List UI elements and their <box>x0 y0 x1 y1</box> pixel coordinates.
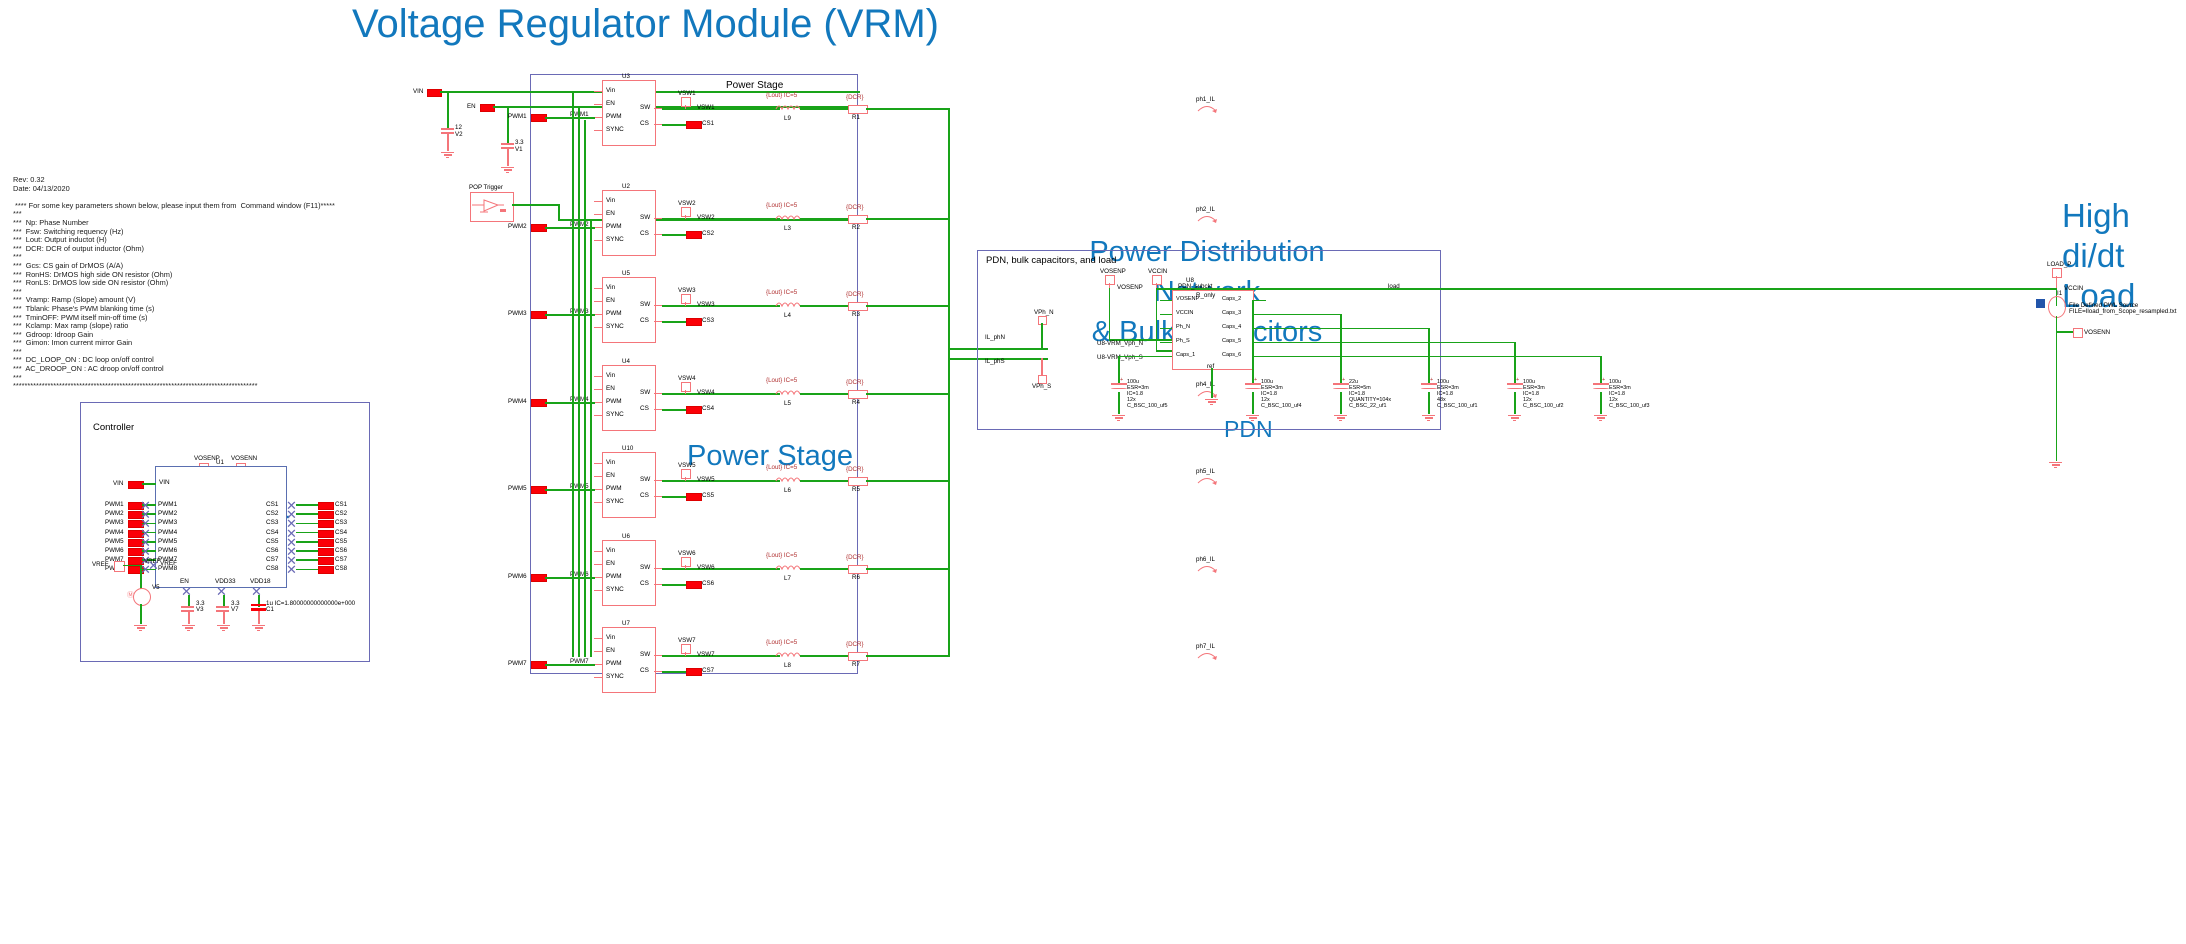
inductor-symbol-4 <box>774 474 802 486</box>
power-stage-pin-sync-4: SYNC <box>606 498 624 505</box>
power-stage-pin-sw-6: SW <box>640 651 650 658</box>
resistor-ref-5: R6 <box>852 574 860 581</box>
wire-vphn <box>1041 323 1043 348</box>
pdn-cap-dropline-4 <box>1600 356 1602 383</box>
pdn-pin-ph_n: Ph_N <box>1176 324 1190 330</box>
pdn-pin-ph_s: Ph_S <box>1176 338 1190 344</box>
power-stage-port-label-pwm1: PWM1 <box>508 113 527 120</box>
inductor-ref-6: L8 <box>784 662 791 669</box>
phase-current-label-4: ph5_IL <box>1196 468 1215 475</box>
power-stage-port-cs7[interactable] <box>686 668 702 676</box>
power-stage-port-label-pwm7: PWM7 <box>508 660 527 667</box>
controller-pin-cs7: CS7 <box>266 556 278 563</box>
inductor-value-5: {Lout} IC=5 <box>766 552 797 559</box>
wire-pop-trigger-down <box>558 204 560 220</box>
pdn-cap-ref-5: C_BSC_100_uf3 <box>1609 403 1649 410</box>
resistor-ref-6: R7 <box>852 661 860 668</box>
wire-v1-gnd <box>507 148 509 166</box>
pdn-cap-ref-3: C_BSC_100_uf1 <box>1437 403 1477 410</box>
power-stage-frame-label: Power Stage <box>726 80 783 91</box>
power-stage-pin-sync-0: SYNC <box>606 126 624 133</box>
resistor-value-5: {DCR} <box>846 554 864 561</box>
controller-wire-gnd-0 <box>188 611 190 624</box>
load-file-icon[interactable] <box>2036 299 2045 308</box>
pdn-cap-symbol-5 <box>1593 383 1609 392</box>
power-stage-pin-vin-2: Vin <box>606 284 615 291</box>
power-stage-outwire-0-3 <box>654 393 662 394</box>
pdn-ic-name: PDN_subckt <box>1178 283 1212 290</box>
power-stage-pin-en-2: EN <box>606 297 615 304</box>
power-stage-pin-sw-2: SW <box>640 301 650 308</box>
power-stage-testpoint-label-vsw4: VSW4 <box>678 375 696 382</box>
controller-frame-label: Controller <box>93 422 134 433</box>
inductor-symbol-0 <box>774 102 802 114</box>
controller-part-ref-2: C1 <box>266 606 274 613</box>
power-stage-tpwire-3 <box>685 390 687 394</box>
load-net-label-vccin: VCCIN <box>2064 285 2083 292</box>
wire-vref-down <box>140 565 142 589</box>
wire-vout-rail <box>948 110 950 655</box>
resistor-value-4: {DCR} <box>846 466 864 473</box>
power-stage-pinwire-2-3 <box>594 402 602 403</box>
power-stage-pinwire-2-4 <box>594 489 602 490</box>
power-stage-indwire-5 <box>800 568 850 570</box>
power-stage-net-label-vsw4: VSW4 <box>697 389 715 396</box>
wire-pop-trigger-out <box>512 204 560 206</box>
resistor-value-3: {DCR} <box>846 379 864 386</box>
pdn-pinwire-left-1 <box>1160 314 1172 315</box>
pdn-cap-gndwire-2 <box>1340 392 1342 414</box>
power-stage-tpwire-0 <box>685 105 687 109</box>
resistor-symbol-5 <box>848 565 868 574</box>
power-stage-pinwire-3-1 <box>594 240 602 241</box>
pdn-subckt-ic-u8[interactable] <box>1172 290 1254 370</box>
power-stage-swwire-3 <box>662 393 780 395</box>
wire-vin-controller <box>142 483 156 485</box>
v1-ref: V1 <box>515 146 523 153</box>
power-stage-pinwire-0-5 <box>594 551 602 552</box>
inductor-symbol-6 <box>774 649 802 661</box>
pdn-pin-caps_4: Caps_4 <box>1222 324 1241 330</box>
current-probe-arrow-icon-6 <box>1196 650 1218 660</box>
pdn-cap-plus-4: + <box>1516 377 1519 384</box>
ground-symbol-pdn-ref <box>1205 398 1218 405</box>
pdn-pinwire-right-1 <box>1252 314 1266 315</box>
wire-load-top <box>2056 276 2058 288</box>
inductor-symbol-5 <box>774 562 802 574</box>
pdn-cap-plus-5: + <box>1602 377 1605 384</box>
power-stage-pin-sw-0: SW <box>640 104 650 111</box>
port-label-vref: VREF <box>92 561 109 568</box>
inductor-ref-4: L6 <box>784 487 791 494</box>
power-stage-reswire-4 <box>866 480 950 482</box>
wire-bus-3 <box>584 120 586 657</box>
power-stage-port-label-cs7: CS7 <box>702 667 714 674</box>
controller-port-label-cs5: CS5 <box>335 538 347 545</box>
controller-port-cs7[interactable] <box>318 557 334 565</box>
power-stage-pin-en-0: EN <box>606 100 615 107</box>
inductor-value-1: {Lout} IC=5 <box>766 202 797 209</box>
power-stage-swwire-1 <box>662 218 780 220</box>
controller-port-label-cs6: CS6 <box>335 547 347 554</box>
pdn-cap-symbol-1 <box>1245 383 1261 392</box>
controller-port-label-pwm2: PWM2 <box>105 510 124 517</box>
power-stage-port-cs1[interactable] <box>686 121 702 129</box>
controller-pin-cs3: CS3 <box>266 519 278 526</box>
power-stage-pin-cs-1: CS <box>640 230 649 237</box>
power-stage-port-cs4[interactable] <box>686 406 702 414</box>
power-stage-pin-pwm-0: PWM <box>606 113 622 120</box>
pdn-pinwire-right-3 <box>1252 342 1266 343</box>
controller-port-cs5[interactable] <box>318 539 334 547</box>
inductor-ref-2: L4 <box>784 312 791 319</box>
power-stage-pin-en-1: EN <box>606 210 615 217</box>
power-stage-port-label-cs1: CS1 <box>702 120 714 127</box>
power-stage-pinwire-2-1 <box>594 227 602 228</box>
pdn-frame-label: PDN, bulk capacitors, and load <box>986 255 1116 266</box>
pdn-pinwire-left-0 <box>1160 300 1172 301</box>
pdn-pin-caps_6: Caps_6 <box>1222 352 1241 358</box>
wire-pdn-vosenp <box>1109 288 1111 340</box>
controller-pin-cs6: CS6 <box>266 547 278 554</box>
power-stage-pinwire-0-6 <box>594 638 602 639</box>
load-source-ref: I1 <box>2057 290 2062 297</box>
power-stage-tpwire-5 <box>685 565 687 569</box>
ground-symbol-vdd33 <box>217 624 230 631</box>
power-stage-outwire-0-5 <box>654 568 662 569</box>
power-stage-pin-sw-1: SW <box>640 214 650 221</box>
controller-port-cs2[interactable] <box>318 511 334 519</box>
power-stage-indwire-6 <box>800 655 850 657</box>
power-stage-pin-vin-4: Vin <box>606 459 615 466</box>
controller-wire-gnd-1 <box>223 611 225 624</box>
power-stage-pin-vin-6: Vin <box>606 634 615 641</box>
page-title: Voltage Regulator Module (VRM) <box>352 2 939 46</box>
ground-symbol-vdd18 <box>252 624 265 631</box>
power-stage-pinwire-3-6 <box>594 677 602 678</box>
power-stage-port-cs2[interactable] <box>686 231 702 239</box>
pdn-cap-plus-3: + <box>1430 377 1433 384</box>
port-vref[interactable] <box>114 561 125 572</box>
controller-port-label-cs8: CS8 <box>335 565 347 572</box>
pdn-pinwire-right-0 <box>1252 300 1266 301</box>
load-port-label-vosenn: VOSENN <box>2084 329 2110 336</box>
wire-vphs <box>1041 358 1043 376</box>
v1-value: 3.3 <box>515 139 524 146</box>
wire-pdn-vccin-h <box>1156 350 1173 352</box>
power-stage-pinwire-2-0 <box>594 117 602 118</box>
controller-port-cs4[interactable] <box>318 530 334 538</box>
power-stage-pinwire-1-1 <box>594 214 602 215</box>
current-probe-arrow-icon-0 <box>1196 103 1218 113</box>
power-stage-outwire-0-1 <box>654 218 662 219</box>
controller-wire-gnd-2 <box>258 611 260 624</box>
controller-pin-pwm6: PWM6 <box>158 547 177 554</box>
ground-symbol-v1 <box>501 166 514 173</box>
controller-port-cs1[interactable] <box>318 502 334 510</box>
controller-wire-cs6 <box>296 550 318 552</box>
pdn-pin-caps_3: Caps_3 <box>1222 310 1241 316</box>
pdn-port-label-vosenp: VOSENP <box>1100 268 1126 275</box>
pdn-net-label-vphn: U8-VRM_Vph_N <box>1097 340 1143 347</box>
power-stage-pinwire-2-5 <box>594 577 602 578</box>
resistor-ref-4: R5 <box>852 486 860 493</box>
wire-vref-gnd <box>140 604 142 624</box>
pdn-pin-vccin: VCCIN <box>1176 310 1193 316</box>
pdn-pin-vosenp: VOSENP <box>1176 296 1199 302</box>
pdn-cap-symbol-4 <box>1507 383 1523 392</box>
revision-notes-text: Rev: 0.32 Date: 04/13/2020 **** For some… <box>13 176 335 391</box>
power-stage-pin-en-6: EN <box>606 647 615 654</box>
pdn-pinwire-right-4 <box>1252 356 1266 357</box>
resistor-value-1: {DCR} <box>846 204 864 211</box>
controller-wire-cs3 <box>296 523 318 525</box>
power-stage-pinwire-0-0 <box>594 91 602 92</box>
controller-pin-pwm5: PWM5 <box>158 538 177 545</box>
ground-symbol-cap-5 <box>1594 414 1607 421</box>
power-stage-outwire-1-3 <box>654 409 662 410</box>
inductor-value-6: {Lout} IC=5 <box>766 639 797 646</box>
resistor-symbol-0 <box>848 105 868 114</box>
load-current-source-symbol <box>2048 296 2066 318</box>
power-stage-testpoint-label-vsw3: VSW3 <box>678 287 696 294</box>
inductor-symbol-2 <box>774 299 802 311</box>
phase-current-label-1: ph2_IL <box>1196 206 1215 213</box>
power-stage-indwire-1 <box>800 218 850 220</box>
power-stage-pinwire-3-3 <box>594 415 602 416</box>
controller-port-label-pwm3: PWM3 <box>105 519 124 526</box>
power-stage-reswire-0 <box>866 108 950 110</box>
load-port-vosenn[interactable] <box>2073 328 2083 338</box>
port-label-vin-controller: VIN <box>113 480 123 487</box>
controller-wire-cs4 <box>296 532 318 534</box>
power-stage-pin-sync-1: SYNC <box>606 236 624 243</box>
pdn-cap-ref-4: C_BSC_100_uf2 <box>1523 403 1563 410</box>
wire-pdn-vccin <box>1156 288 1158 351</box>
vref-source-glyph: Ⓜ <box>127 592 134 599</box>
controller-port-label-cs3: CS3 <box>335 519 347 526</box>
inductor-value-0: {Lout} IC=5 <box>766 92 797 99</box>
ground-symbol-cap-1 <box>1246 414 1259 421</box>
power-stage-pin-pwm-4: PWM <box>606 485 622 492</box>
power-stage-tpwire-6 <box>685 652 687 656</box>
power-stage-pin-sw-4: SW <box>640 476 650 483</box>
pdn-cap-symbol-3 <box>1421 383 1437 392</box>
power-stage-port-cs5[interactable] <box>686 493 702 501</box>
power-stage-port-cs3[interactable] <box>686 318 702 326</box>
power-stage-outwire-0-0 <box>654 108 662 109</box>
wire-v2-gnd <box>447 133 449 151</box>
power-stage-pin-sync-6: SYNC <box>606 673 624 680</box>
controller-port-cs8[interactable] <box>318 566 334 574</box>
inductor-ref-3: L5 <box>784 400 791 407</box>
power-stage-port-label-cs3: CS3 <box>702 317 714 324</box>
power-stage-ic-ref-0: U3 <box>622 73 630 80</box>
current-probe-arrow-icon-1 <box>1196 213 1218 223</box>
pdn-pinwire-left-3 <box>1160 342 1172 343</box>
ground-symbol-en <box>182 624 195 631</box>
power-stage-reswire-1 <box>866 218 950 220</box>
inductor-value-3: {Lout} IC=5 <box>766 377 797 384</box>
power-stage-reswire-2 <box>866 305 950 307</box>
pdn-cap-ref-1: C_BSC_100_uf4 <box>1261 403 1301 410</box>
power-stage-pin-vin-5: Vin <box>606 547 615 554</box>
power-stage-pin-pwm-6: PWM <box>606 660 622 667</box>
pdn-net-label-vosenp: VOSENP <box>1117 284 1143 291</box>
power-stage-net-label-vsw7: VSW7 <box>697 651 715 658</box>
inductor-ref-1: L3 <box>784 225 791 232</box>
power-stage-pinwire-1-6 <box>594 651 602 652</box>
power-stage-pinwire-3-5 <box>594 590 602 591</box>
controller-junction-vdd18-icon: ✕ <box>251 585 262 598</box>
controller-port-label-pwm5: PWM5 <box>105 538 124 545</box>
controller-port-label-pwm1: PWM1 <box>105 501 124 508</box>
pdn-cap-gndwire-4 <box>1514 392 1516 414</box>
phase-current-label-0: ph1_IL <box>1196 96 1215 103</box>
pdn-current-label-iphs: IL_phS <box>985 358 1005 365</box>
pdn-testpoint-label-vphs: VPh_S <box>1032 383 1051 390</box>
pdn-current-label-iphn: IL_phN <box>985 334 1005 341</box>
pdn-pinwire-right-2 <box>1252 328 1266 329</box>
v2-ref: V2 <box>455 131 463 138</box>
controller-pin-pwm1: PWM1 <box>158 501 177 508</box>
pdn-port-label-vccin: VCCIN <box>1148 268 1167 275</box>
power-stage-port-cs6[interactable] <box>686 581 702 589</box>
current-probe-arrow-icon-5 <box>1196 563 1218 573</box>
port-vin-source[interactable] <box>427 89 442 97</box>
controller-part-value-2: 1u IC=1.80000000000000e+000 <box>266 600 355 607</box>
controller-cap-symbol-2 <box>251 604 266 611</box>
power-stage-testpoint-label-vsw2: VSW2 <box>678 200 696 207</box>
resistor-value-0: {DCR} <box>846 94 864 101</box>
power-stage-pin-cs-0: CS <box>640 120 649 127</box>
power-stage-outwire-1-2 <box>654 321 662 322</box>
power-stage-port-label-pwm3: PWM3 <box>508 310 527 317</box>
inductor-ref-5: L7 <box>784 575 791 582</box>
power-stage-outwire-1-4 <box>654 496 662 497</box>
power-stage-net-label-vsw2: VSW2 <box>697 214 715 221</box>
pdn-cap-ref-0: C_BSC_100_uf5 <box>1127 403 1167 410</box>
pdn-cap-busline-3 <box>1266 342 1514 343</box>
power-stage-indwire-2 <box>800 305 850 307</box>
power-stage-ic-ref-1: U2 <box>622 183 630 190</box>
power-stage-reswire-3 <box>866 393 950 395</box>
power-stage-swwire-5 <box>662 568 780 570</box>
controller-wire-cs1 <box>296 504 318 506</box>
wire-load-bottom <box>2056 316 2058 461</box>
ground-symbol-cap-0 <box>1112 414 1125 421</box>
power-stage-pinwire-1-5 <box>594 564 602 565</box>
power-stage-pin-en-3: EN <box>606 385 615 392</box>
power-stage-swwire-0 <box>662 108 780 110</box>
power-stage-pinwire-2-6 <box>594 664 602 665</box>
controller-wire-cs7 <box>296 559 318 561</box>
power-stage-pin-cs-4: CS <box>640 492 649 499</box>
port-en-source[interactable] <box>480 104 495 112</box>
wire-bus-4 <box>590 219 592 657</box>
wire-vref-1 <box>123 565 141 567</box>
controller-pin-pwm2: PWM2 <box>158 510 177 517</box>
resistor-ref-0: R1 <box>852 114 860 121</box>
port-vin-controller[interactable] <box>128 481 144 489</box>
power-stage-port-label-cs6: CS6 <box>702 580 714 587</box>
pdn-cap-gndwire-0 <box>1118 392 1120 414</box>
inductor-ref-0: L9 <box>784 115 791 122</box>
load-source-file: FILE=Iload_from_Scope_resampled.txt <box>2069 308 2176 315</box>
pdn-cap-plus-0: + <box>1120 377 1123 384</box>
power-stage-indwire-4 <box>800 480 850 482</box>
power-stage-indwire-3 <box>800 393 850 395</box>
pdn-pinwire-left-2 <box>1160 328 1172 329</box>
power-stage-pin-cs-2: CS <box>640 317 649 324</box>
inductor-symbol-3 <box>774 387 802 399</box>
ground-symbol-cap-3 <box>1422 414 1435 421</box>
controller-pin-cs1: CS1 <box>266 501 278 508</box>
power-stage-pin-sw-5: SW <box>640 564 650 571</box>
power-stage-tpwire-4 <box>685 477 687 481</box>
ground-symbol-vref <box>134 624 147 631</box>
power-stage-pin-sync-2: SYNC <box>606 323 624 330</box>
controller-pin-vref: VREF <box>160 560 177 567</box>
vref-source-symbol <box>133 588 151 606</box>
power-stage-outwire-1-1 <box>654 234 662 235</box>
power-stage-port-label-cs4: CS4 <box>702 405 714 412</box>
section-title-load: High di/dt Load <box>2062 196 2135 316</box>
power-stage-ic-ref-4: U10 <box>622 445 633 452</box>
pop-trigger-label: POP Trigger <box>469 184 503 191</box>
power-stage-pinwire-1-2 <box>594 301 602 302</box>
load-net-label: load <box>1388 283 1400 290</box>
power-stage-pinwire-1-3 <box>594 389 602 390</box>
power-stage-pin-pwm-2: PWM <box>606 310 622 317</box>
ground-symbol-v2 <box>441 151 454 158</box>
power-stage-pin-cs-6: CS <box>640 667 649 674</box>
power-stage-testpoint-label-vsw7: VSW7 <box>678 637 696 644</box>
power-stage-pin-vin-3: Vin <box>606 372 615 379</box>
power-stage-pin-en-4: EN <box>606 472 615 479</box>
power-stage-net-label-vsw1: VSW1 <box>697 104 715 111</box>
controller-port-cs3[interactable] <box>318 520 334 528</box>
pdn-pin-caps_2: Caps_2 <box>1222 296 1241 302</box>
controller-pin-cs5: CS5 <box>266 538 278 545</box>
pdn-pin-caps_5: Caps_5 <box>1222 338 1241 344</box>
ground-symbol-cap-2 <box>1334 414 1347 421</box>
power-stage-outwire-0-2 <box>654 305 662 306</box>
power-stage-reswire-5 <box>866 568 950 570</box>
power-stage-port-label-pwm6: PWM6 <box>508 573 527 580</box>
power-stage-reswire-6 <box>866 655 950 657</box>
power-stage-ic-ref-2: U5 <box>622 270 630 277</box>
pdn-cap-plus-1: + <box>1254 377 1257 384</box>
power-stage-outwire-0-4 <box>654 480 662 481</box>
power-stage-pin-sync-3: SYNC <box>606 411 624 418</box>
resistor-symbol-4 <box>848 477 868 486</box>
pdn-cap-symbol-0 <box>1111 383 1127 392</box>
wire-vin-down <box>447 92 449 130</box>
port-label-en-source: EN <box>467 103 476 110</box>
power-stage-tpwire-2 <box>685 302 687 306</box>
power-stage-port-label-pwm5: PWM5 <box>508 485 527 492</box>
power-stage-ic-ref-5: U6 <box>622 533 630 540</box>
port-label-vosenn: VOSENN <box>231 455 257 462</box>
resistor-value-6: {DCR} <box>846 641 864 648</box>
pdn-cap-gndwire-1 <box>1252 392 1254 414</box>
ground-symbol-load <box>2049 461 2062 468</box>
controller-port-cs6[interactable] <box>318 548 334 556</box>
pop-trigger-symbol-icon <box>470 192 512 220</box>
power-stage-net-label-vsw3: VSW3 <box>697 301 715 308</box>
phase-current-label-6: ph7_IL <box>1196 643 1215 650</box>
